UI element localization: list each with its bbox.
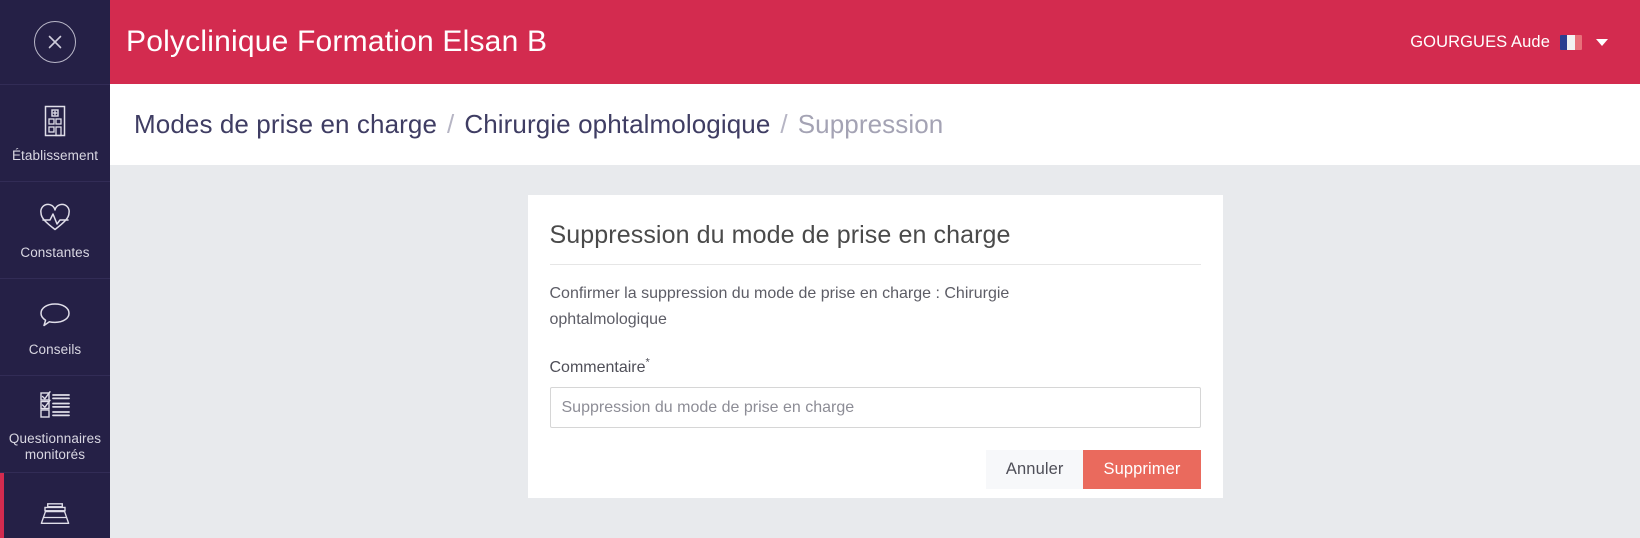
sidebar: Établissement Constantes Conseils — [0, 0, 110, 538]
hospital-bed-icon — [35, 499, 75, 535]
speech-bubble-icon — [35, 297, 75, 333]
card-title: Suppression du mode de prise en charge — [550, 219, 1201, 265]
sidebar-item-hospitalisation[interactable] — [0, 472, 110, 538]
card-actions: Annuler Supprimer — [550, 450, 1201, 489]
chevron-down-icon[interactable] — [1596, 39, 1608, 46]
breadcrumb-item-modes[interactable]: Modes de prise en charge — [134, 109, 437, 140]
breadcrumb-separator: / — [447, 109, 454, 140]
comment-input[interactable] — [550, 387, 1201, 428]
sidebar-item-label: Constantes — [20, 245, 89, 261]
sidebar-item-questionnaires-monitores[interactable]: Questionnaires monitorés — [0, 375, 110, 472]
application-window: Établissement Constantes Conseils — [0, 0, 1640, 538]
sidebar-item-conseils[interactable]: Conseils — [0, 278, 110, 375]
breadcrumb-item-suppression: Suppression — [798, 109, 944, 140]
cancel-button[interactable]: Annuler — [986, 450, 1084, 489]
main-area: Polyclinique Formation Elsan B GOURGUES … — [110, 0, 1640, 538]
top-header-bar: Polyclinique Formation Elsan B GOURGUES … — [110, 0, 1640, 84]
sidebar-item-label: Établissement — [12, 148, 98, 164]
checklist-icon — [35, 386, 75, 422]
delete-confirmation-card: Suppression du mode de prise en charge C… — [528, 195, 1223, 498]
required-marker: * — [646, 357, 650, 369]
breadcrumb-bar: Modes de prise en charge / Chirurgie oph… — [110, 84, 1640, 165]
user-name-label: GOURGUES Aude — [1410, 33, 1550, 52]
delete-button[interactable]: Supprimer — [1083, 450, 1200, 489]
user-menu[interactable]: GOURGUES Aude — [1410, 33, 1612, 52]
sidebar-header — [0, 0, 110, 84]
content-area: Suppression du mode de prise en charge C… — [110, 165, 1640, 538]
breadcrumb-separator: / — [780, 109, 787, 140]
sidebar-item-etablissement[interactable]: Établissement — [0, 84, 110, 181]
confirmation-message: Confirmer la suppression du mode de pris… — [550, 281, 1080, 333]
breadcrumb-item-chirurgie[interactable]: Chirurgie ophtalmologique — [464, 109, 770, 140]
breadcrumb: Modes de prise en charge / Chirurgie oph… — [134, 109, 943, 140]
french-flag-icon — [1560, 35, 1582, 50]
sidebar-item-list: Établissement Constantes Conseils — [0, 84, 110, 538]
sidebar-item-label: Questionnaires monitorés — [4, 431, 106, 463]
sidebar-item-label: Conseils — [29, 342, 82, 358]
hospital-building-icon — [35, 103, 75, 139]
page-title: Polyclinique Formation Elsan B — [126, 25, 547, 59]
sidebar-item-constantes[interactable]: Constantes — [0, 181, 110, 278]
close-circle-icon[interactable] — [34, 21, 76, 63]
comment-label-text: Commentaire — [550, 359, 646, 376]
comment-field-label: Commentaire* — [550, 359, 1201, 377]
heart-pulse-icon — [35, 200, 75, 236]
